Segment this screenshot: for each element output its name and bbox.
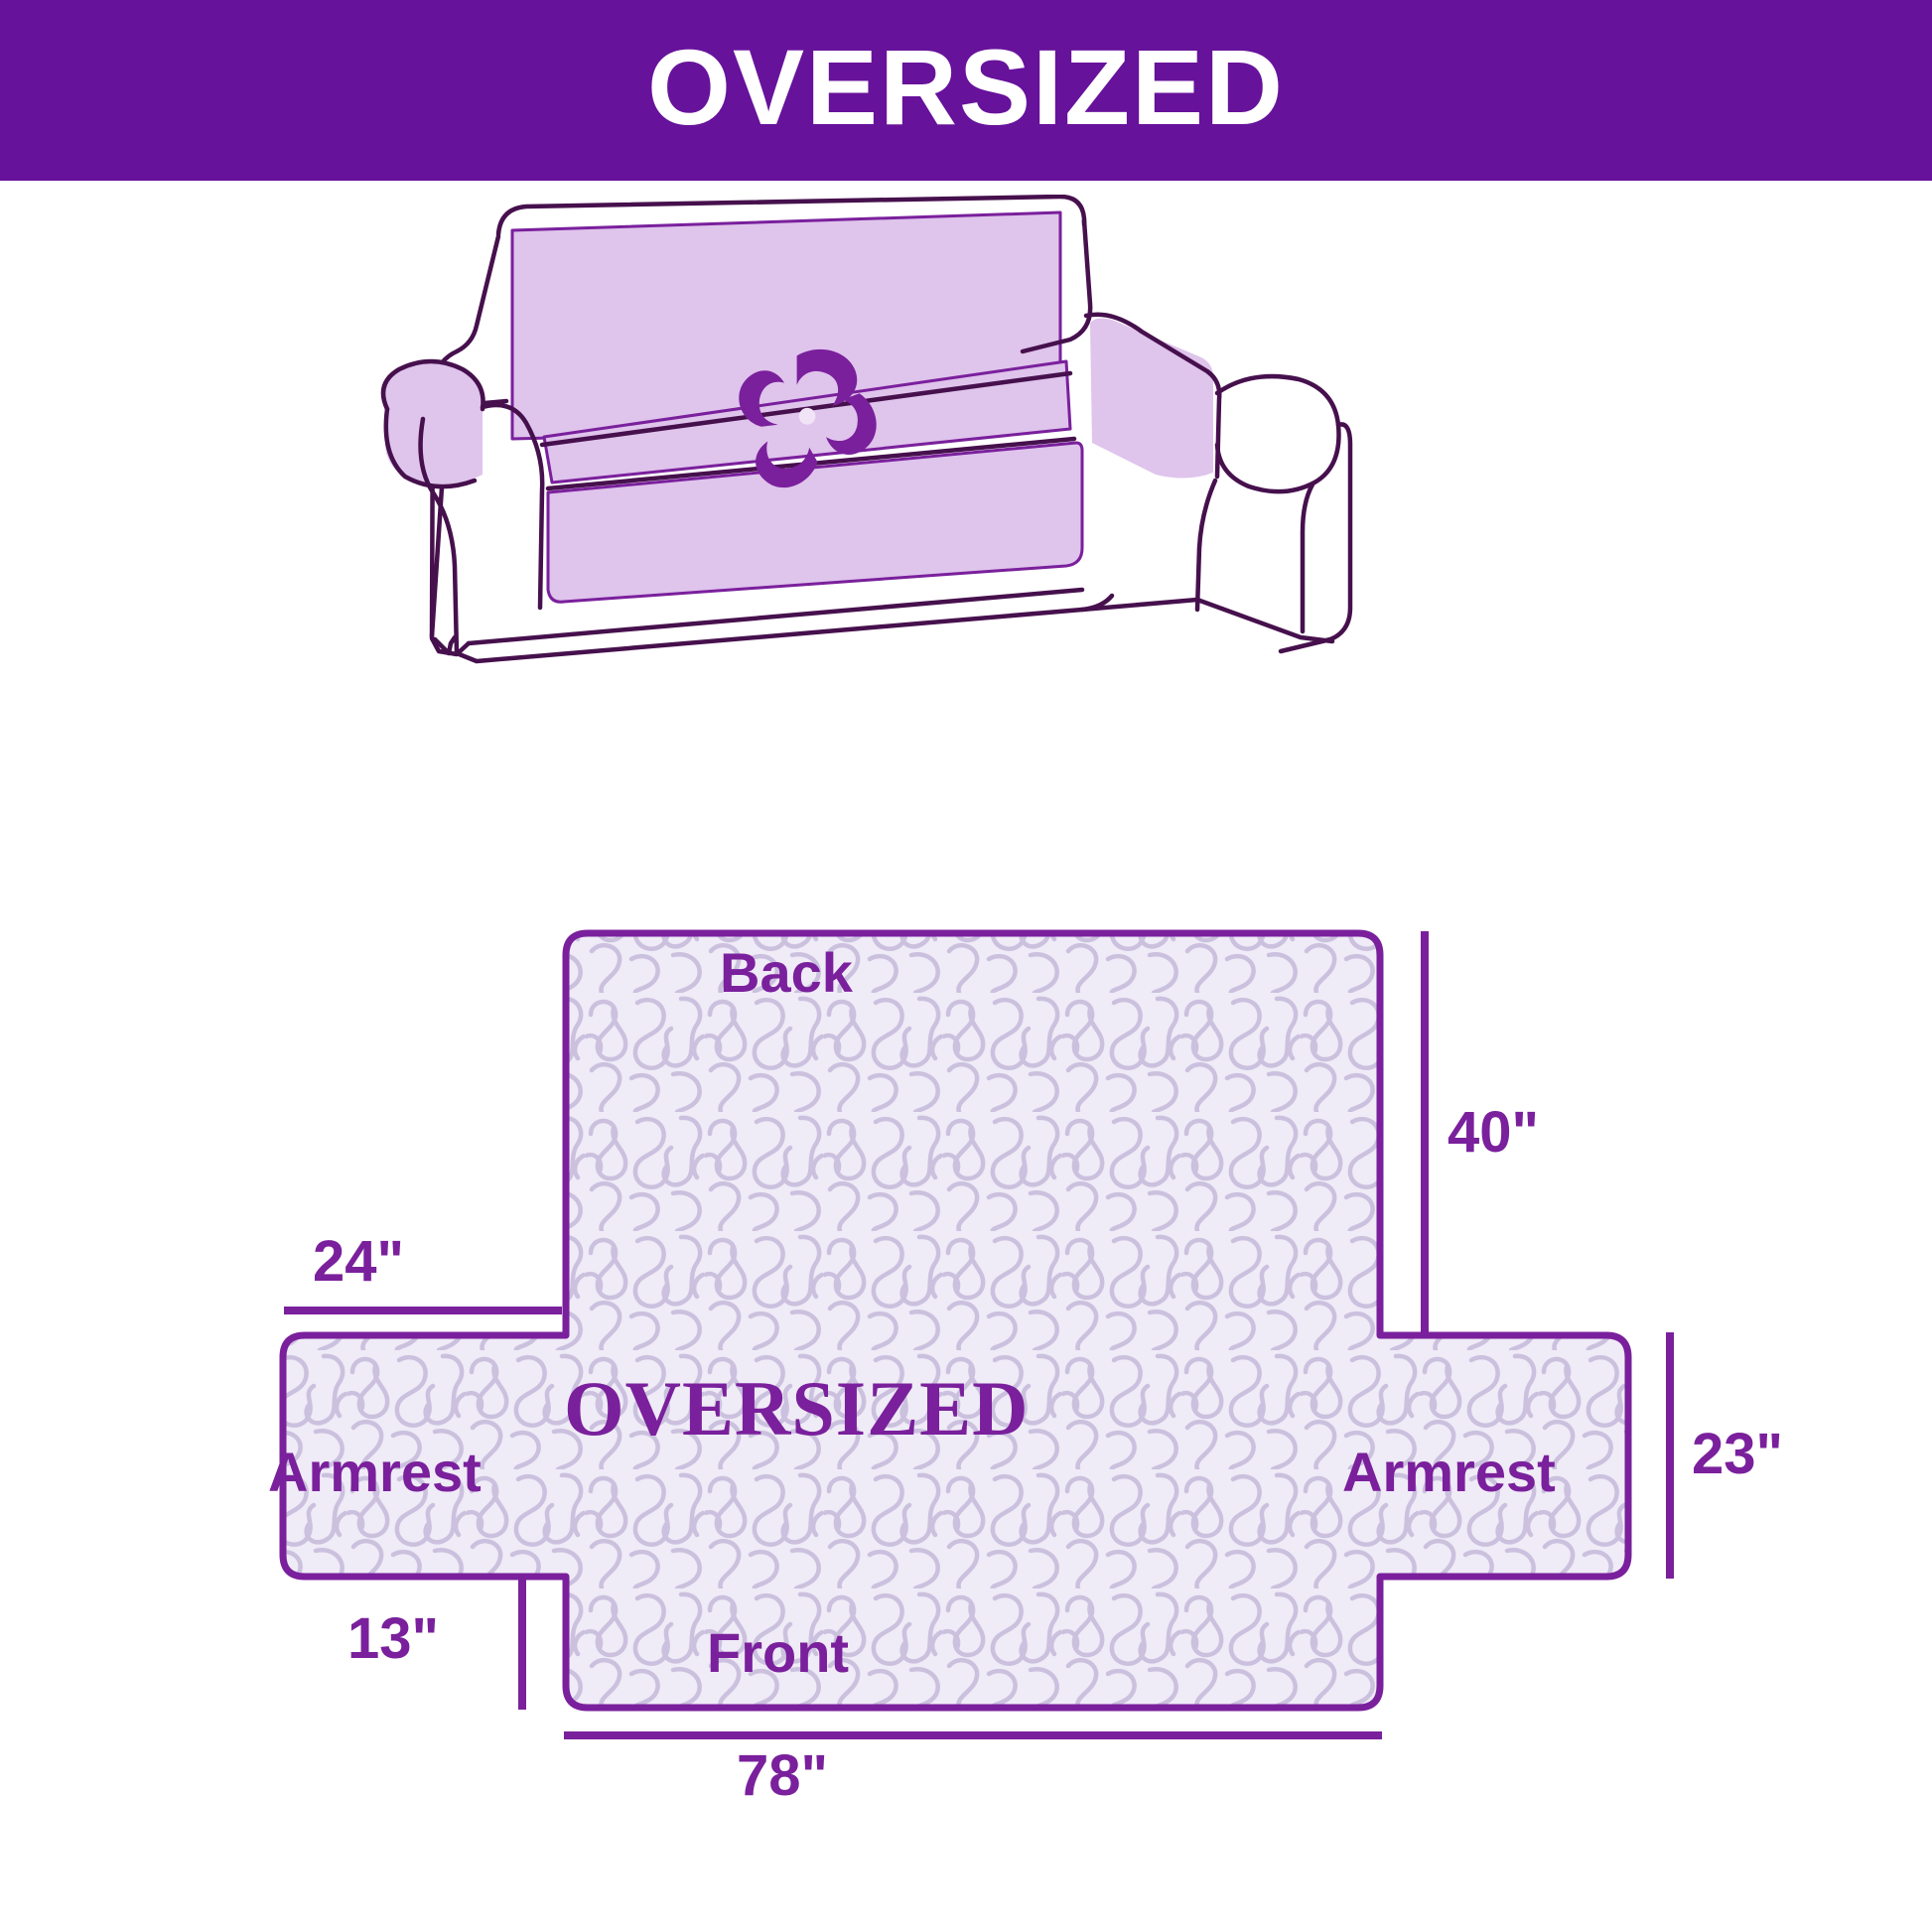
dimension-label-13: 13" [347,1610,439,1668]
sofa-illustration: .ln { fill:none; stroke:#46104D; stroke-… [328,195,1608,691]
sofa-right-inner-arm-fill [1090,319,1213,479]
sofa-bottom-front-edge [457,596,1112,661]
sofa-right-arm-roll [1217,376,1339,491]
page-title: OVERSIZED [647,34,1285,141]
sofa-right-arm-outer-edge [1281,424,1350,651]
pinwheel-center-dot [799,408,816,425]
dimension-label-40: 40" [1448,1104,1539,1162]
panel-label-center: OVERSIZED [564,1370,1029,1448]
dimension-label-24: 24" [313,1233,404,1291]
header-banner: OVERSIZED [0,0,1932,181]
sofa-right-arm-inner-front [1197,481,1215,610]
sofa-right-arm-front-face [1303,484,1312,631]
panel-label-back: Back [720,945,853,1001]
dimension-label-78: 78" [737,1747,828,1805]
panel-label-armrest-right: Armrest [1342,1445,1556,1500]
panel-label-armrest-left: Armrest [268,1445,482,1500]
sofa-right-base [1082,600,1332,641]
panel-label-front: Front [707,1625,849,1681]
dimension-diagram: Back OVERSIZED Armrest Armrest Front 40"… [228,874,1718,1797]
dimension-label-23: 23" [1692,1426,1783,1483]
